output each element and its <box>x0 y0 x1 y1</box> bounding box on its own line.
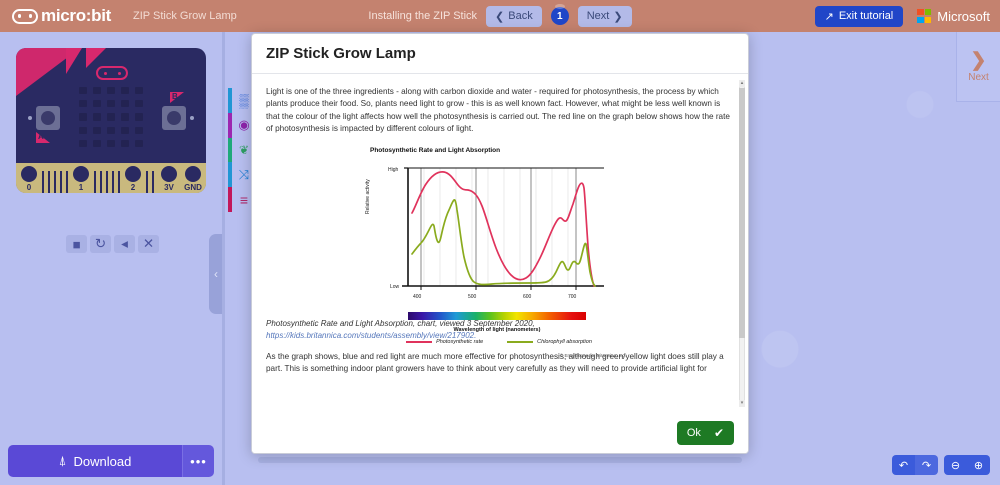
modal-title: ZIP Stick Grow Lamp <box>266 45 416 62</box>
legend-label-photosynthetic-rate: Photosynthetic rate <box>436 336 483 348</box>
x-tick-500: 500 <box>468 291 476 303</box>
check-icon: ✔ <box>714 426 724 440</box>
visible-spectrum-bar <box>408 312 586 320</box>
x-tick-400: 400 <box>413 291 421 303</box>
chart-area: High Low Relative activity 400 500 600 7… <box>364 160 632 312</box>
x-tick-600: 600 <box>523 291 531 303</box>
y-axis-high-label: High <box>388 164 398 176</box>
chart-title: Photosynthetic Rate and Light Absorption <box>364 145 632 157</box>
photosynthesis-figure: Photosynthetic Rate and Light Absorption <box>364 145 632 312</box>
legend-label-chlorophyll-absorption: Chlorophyll absorption <box>537 336 592 348</box>
second-paragraph: As the graph shows, blue and red light a… <box>266 351 730 376</box>
x-tick-700: 700 <box>568 291 576 303</box>
ok-label: Ok <box>687 427 701 439</box>
modal-scrollbar-thumb[interactable] <box>739 88 745 338</box>
modal-overlay: ZIP Stick Grow Lamp Light is one of the … <box>0 0 1000 485</box>
modal-body[interactable]: Light is one of the three ingredients - … <box>252 74 748 413</box>
modal-header: ZIP Stick Grow Lamp <box>252 34 748 74</box>
chart-legend: Photosynthetic rate Chlorophyll absorpti… <box>394 336 604 348</box>
modal-footer: Ok ✔ <box>252 413 748 453</box>
x-axis-title: Wavelength of light (nanometers) <box>408 324 586 336</box>
tutorial-modal: ZIP Stick Grow Lamp Light is one of the … <box>251 33 749 454</box>
legend-item-chlorophyll-absorption: Chlorophyll absorption <box>507 336 592 348</box>
legend-item-photosynthetic-rate: Photosynthetic rate <box>406 336 483 348</box>
scroll-down-arrow[interactable]: ▾ <box>739 400 745 407</box>
scroll-up-arrow[interactable]: ▴ <box>739 80 745 87</box>
ok-button[interactable]: Ok ✔ <box>677 421 734 445</box>
chart-svg <box>364 160 632 312</box>
legend-swatch-red <box>406 341 432 343</box>
intro-paragraph: Light is one of the three ingredients - … <box>266 86 730 136</box>
y-axis-low-label: Low <box>390 281 399 293</box>
y-axis-title: Relative activity <box>362 179 374 214</box>
figure-wrapper: Photosynthetic Rate and Light Absorption <box>266 145 730 312</box>
chart-credit: © Encyclopaedia Britannica, Inc. <box>560 350 626 362</box>
legend-swatch-green <box>507 341 533 343</box>
